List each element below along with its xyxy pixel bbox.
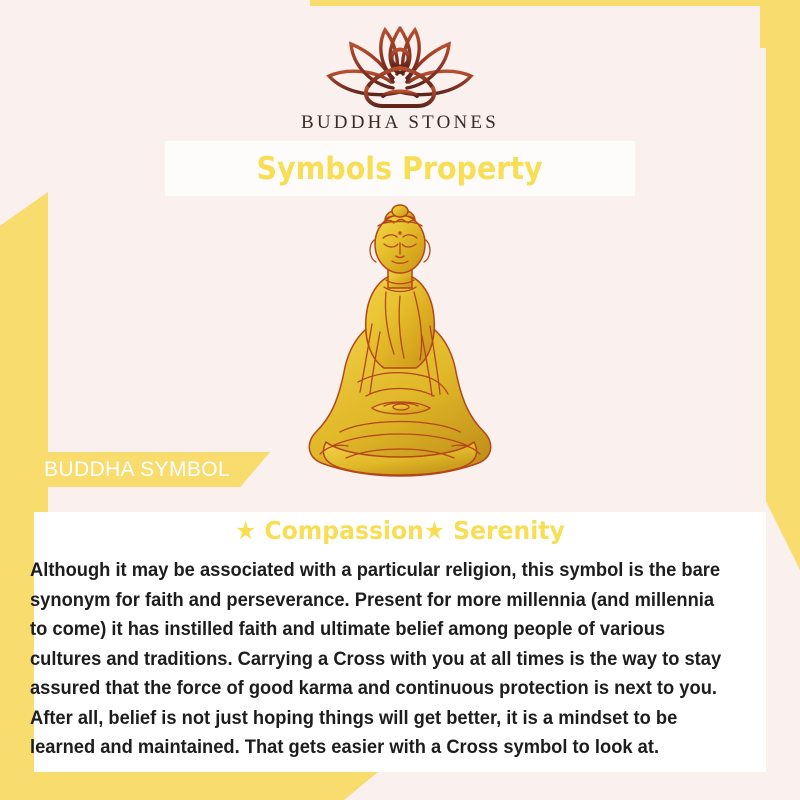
lotus-meditation-figure-icon [305, 18, 495, 110]
brand-name: BUDDHA STONES [0, 112, 800, 134]
content-headline: ★ Compassion★ Serenity [24, 516, 776, 545]
brand-logo: BUDDHA STONES [0, 18, 800, 134]
title-band: Symbols Property [165, 141, 635, 196]
section-ribbon-label: BUDDHA SYMBOL [44, 458, 230, 482]
page-title: Symbols Property [257, 151, 543, 187]
content-body: Although it may be associated with a par… [30, 556, 735, 763]
poster-canvas: BUDDHA STONES Symbols Property [0, 0, 800, 800]
buddha-statue-image [280, 196, 520, 496]
section-ribbon: BUDDHA SYMBOL [22, 452, 270, 487]
golden-seated-buddha-statue [280, 196, 520, 496]
